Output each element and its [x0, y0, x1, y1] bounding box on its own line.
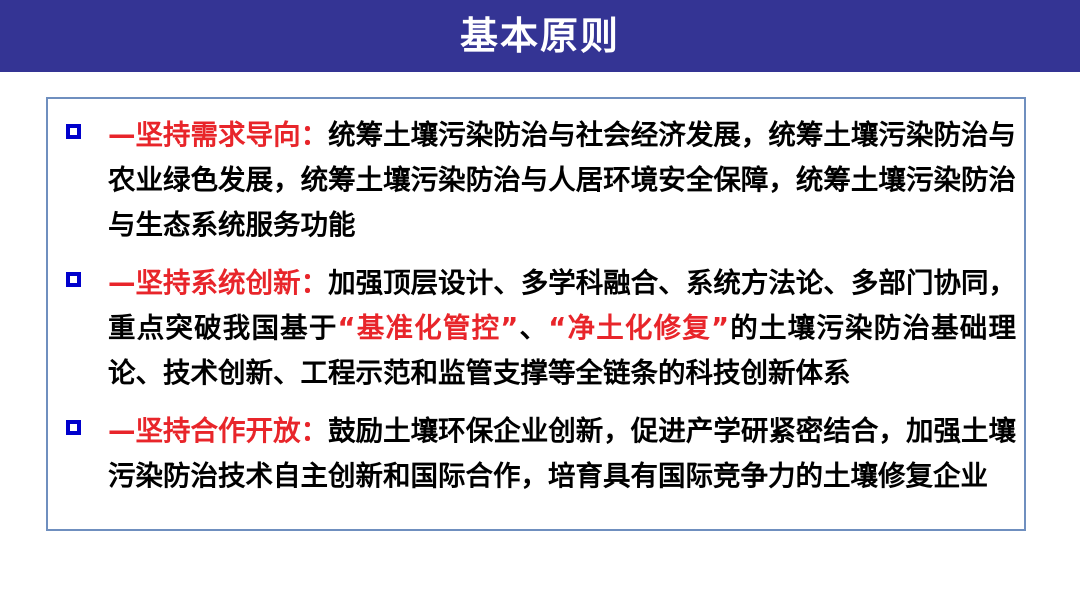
content-panel: —坚持需求导向：统筹土壤污染防治与社会经济发展，统筹土壤污染防治与农业绿色发展，…	[46, 97, 1026, 531]
bullet-heading-1: —坚持需求导向：	[108, 119, 328, 151]
slide-title-banner: 基本原则	[0, 0, 1080, 72]
bullet-text-1: —坚持需求导向：统筹土壤污染防治与社会经济发展，统筹土壤污染防治与农业绿色发展，…	[108, 113, 1016, 248]
bullet-text-3: —坚持合作开放：鼓励土壤环保企业创新，促进产学研紧密结合，加强土壤污染防治技术自…	[108, 409, 1016, 499]
hollow-square-bullet-icon	[66, 124, 81, 139]
bullet-item-3: —坚持合作开放：鼓励土壤环保企业创新，促进产学研紧密结合，加强土壤污染防治技术自…	[56, 409, 1016, 499]
bullet-text-2: —坚持系统创新：加强顶层设计、多学科融合、系统方法论、多部门协同，重点突破我国基…	[108, 261, 1016, 396]
bullet-heading-3: —坚持合作开放：	[108, 415, 328, 447]
bullet-item-2: —坚持系统创新：加强顶层设计、多学科融合、系统方法论、多部门协同，重点突破我国基…	[56, 261, 1016, 396]
bullet-heading-2: —坚持系统创新：	[108, 267, 328, 299]
page-title: 基本原则	[460, 17, 620, 55]
bullet-body-2-part-2: 、	[518, 312, 548, 344]
bullet-body-2-highlight-2: “净土化修复”	[548, 312, 729, 344]
bullet-item-1: —坚持需求导向：统筹土壤污染防治与社会经济发展，统筹土壤污染防治与农业绿色发展，…	[56, 113, 1016, 248]
bullet-body-2-highlight-1: “基准化管控”	[338, 312, 519, 344]
hollow-square-bullet-icon	[66, 272, 81, 287]
hollow-square-bullet-icon	[66, 420, 81, 435]
